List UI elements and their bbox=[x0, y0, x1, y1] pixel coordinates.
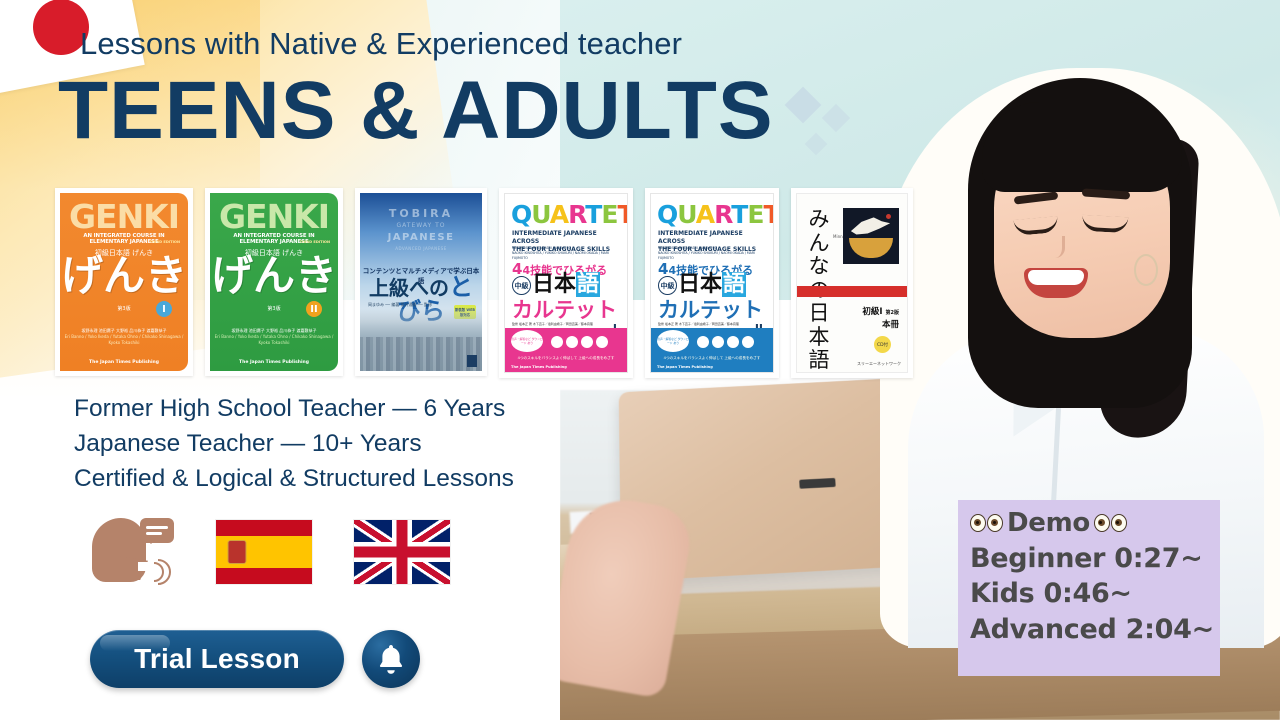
book-authors: 坂野永理 池田庸子 大野裕 品川恭子 渡嘉敷恭子Eri Banno / Yoko… bbox=[60, 328, 188, 346]
book-publisher: The Japan Times Publishing bbox=[210, 360, 338, 365]
book-authors-jp: 監修 坂本正 著 木下直子／宿利由希子／岡田直美／藤本真理 bbox=[658, 322, 739, 327]
demo-item: Beginner 0:27~ bbox=[970, 541, 1210, 577]
book-jp-level: 中級 bbox=[512, 276, 531, 295]
book-title: QUARTET bbox=[657, 202, 767, 227]
book-jp-title: げんき bbox=[60, 255, 188, 297]
hair-bangs bbox=[982, 102, 1182, 192]
bell-icon bbox=[376, 643, 406, 675]
book-cover-quartet-2: QUARTET INTERMEDIATE JAPANESE ACROSSTHE … bbox=[645, 188, 779, 378]
book-cityscape-art bbox=[360, 309, 482, 371]
credential-line: Certified & Logical & Structured Lessons bbox=[74, 462, 514, 497]
book-authors: 坂野永理 池田庸子 大野裕 品川恭子 渡嘉敷恭子Eri Banno / Yoko… bbox=[210, 328, 338, 346]
book-credits: 岡まゆみ ── 編著 筒井通雄 ── 監修 bbox=[368, 301, 432, 308]
demo-item: Advanced 2:04~ bbox=[970, 612, 1210, 648]
book-brand: TOBIRA bbox=[360, 207, 482, 220]
eyes-icon bbox=[1094, 514, 1127, 532]
book-publisher: The Japan Times Publishing bbox=[60, 360, 188, 365]
demo-heading: Demo bbox=[1007, 506, 1090, 541]
book-publisher: スリーエーネットワーク bbox=[857, 361, 901, 367]
book-edition-jp: 第3版 bbox=[267, 305, 280, 312]
book-authors-en: SUPERVISED BY TADASHI SAKAMOTONAOKO KINO… bbox=[512, 246, 620, 260]
book-title: QUARTET bbox=[511, 202, 621, 227]
book-jp-level: 中級 bbox=[658, 276, 677, 295]
language-icon-row bbox=[88, 512, 450, 592]
uk-flag-icon bbox=[354, 520, 450, 584]
book-edition-en: THIRD EDITION bbox=[150, 240, 180, 244]
demo-timestamps-box: Demo Beginner 0:27~ Kids 0:46~ Advanced … bbox=[958, 500, 1220, 676]
bell-icon-button[interactable] bbox=[362, 630, 420, 688]
page-title: TEENS & ADULTS bbox=[58, 70, 774, 152]
book-line1: GATEWAY TO bbox=[360, 222, 482, 229]
trial-lesson-button[interactable]: Trial Lesson bbox=[90, 630, 344, 688]
book-jp-main: 日本語 bbox=[532, 274, 600, 296]
book-edition-en: THIRD EDITION bbox=[300, 240, 330, 244]
textbook-row: GENKI AN INTEGRATED COURSE IN ELEMENTARY… bbox=[55, 188, 913, 378]
book-skill-icons bbox=[697, 336, 767, 348]
book-cover-art bbox=[843, 208, 899, 264]
eyes-icon bbox=[970, 514, 1003, 532]
promo-banner: Lessons with Native & Experienced teache… bbox=[0, 0, 1280, 720]
book-jp-kata: カルテット bbox=[658, 300, 763, 321]
book-band-text: 4つのスキルをバランスよく伸ばして 上級への成長をめざす bbox=[511, 356, 621, 361]
speaking-head-icon bbox=[88, 512, 174, 592]
cta-row: Trial Lesson bbox=[90, 630, 420, 688]
book-title: GENKI bbox=[210, 200, 338, 233]
book-download-badge: 音声・解答など ダウンロード あり bbox=[657, 330, 689, 352]
banner-subtitle: Lessons with Native & Experienced teache… bbox=[80, 26, 682, 62]
book-download-badge: 音声・解答など ダウンロード あり bbox=[511, 330, 543, 352]
book-line3: ADVANCED JAPANESE bbox=[360, 246, 482, 251]
demo-heading-row: Demo bbox=[970, 506, 1210, 541]
book-jp-title: げんき bbox=[210, 255, 338, 297]
book-cover-genki-2: GENKI AN INTEGRATED COURSE IN ELEMENTARY… bbox=[205, 188, 343, 376]
book-line2: JAPANESE bbox=[360, 232, 482, 243]
book-publisher-logo bbox=[467, 355, 477, 367]
book-cover-genki-1: GENKI AN INTEGRATED COURSE IN ELEMENTARY… bbox=[55, 188, 193, 376]
book-red-bar bbox=[797, 286, 907, 297]
book-jp-main: 日本語 bbox=[678, 274, 746, 296]
book-volume: II bbox=[306, 301, 322, 317]
book-cover-quartet-1: QUARTET INTERMEDIATE JAPANESE ACROSSTHE … bbox=[499, 188, 633, 378]
book-band-text: 4つのスキルをバランスよく伸ばして 上級への成長をめざす bbox=[657, 356, 767, 361]
book-publisher: The Japan Times Publishing bbox=[657, 365, 713, 369]
book-level: 初級Ⅰ 第2版 本冊 bbox=[862, 306, 899, 332]
credentials-list: Former High School Teacher — 6 Years Jap… bbox=[74, 392, 514, 496]
credential-line: Japanese Teacher — 10+ Years bbox=[74, 427, 514, 462]
book-volume: I bbox=[156, 301, 172, 317]
book-jp-kata: カルテット bbox=[512, 300, 617, 321]
book-authors-jp: 監修 坂本正 著 木下直子／宿利由希子／岡田直美／藤本真理 bbox=[512, 322, 593, 327]
book-cover-minna-no-nihongo: みんなの日本語 Minna no Nihongo 初級Ⅰ 第2版 本冊 CD付 … bbox=[791, 188, 913, 378]
trial-lesson-label: Trial Lesson bbox=[134, 643, 300, 675]
book-skill-icons bbox=[551, 336, 621, 348]
book-publisher: The Japan Times Publishing bbox=[511, 365, 567, 369]
hoop-earring bbox=[1134, 254, 1158, 286]
spain-flag-icon bbox=[216, 520, 312, 584]
book-cover-tobira: TOBIRA GATEWAY TO JAPANESE ADVANCED JAPA… bbox=[355, 188, 487, 376]
nose bbox=[1046, 236, 1065, 258]
book-cd-badge: CD付 bbox=[874, 336, 891, 353]
book-edition-jp: 第3版 bbox=[117, 305, 130, 312]
book-authors-en: SUPERVISED BY TADASHI SAKAMOTONAOKO KINO… bbox=[658, 246, 766, 260]
book-brand-block: TOBIRA GATEWAY TO JAPANESE ADVANCED JAPA… bbox=[360, 207, 482, 251]
book-title: GENKI bbox=[60, 200, 188, 233]
credential-line: Former High School Teacher — 6 Years bbox=[74, 392, 514, 427]
demo-item: Kids 0:46~ bbox=[970, 576, 1210, 612]
